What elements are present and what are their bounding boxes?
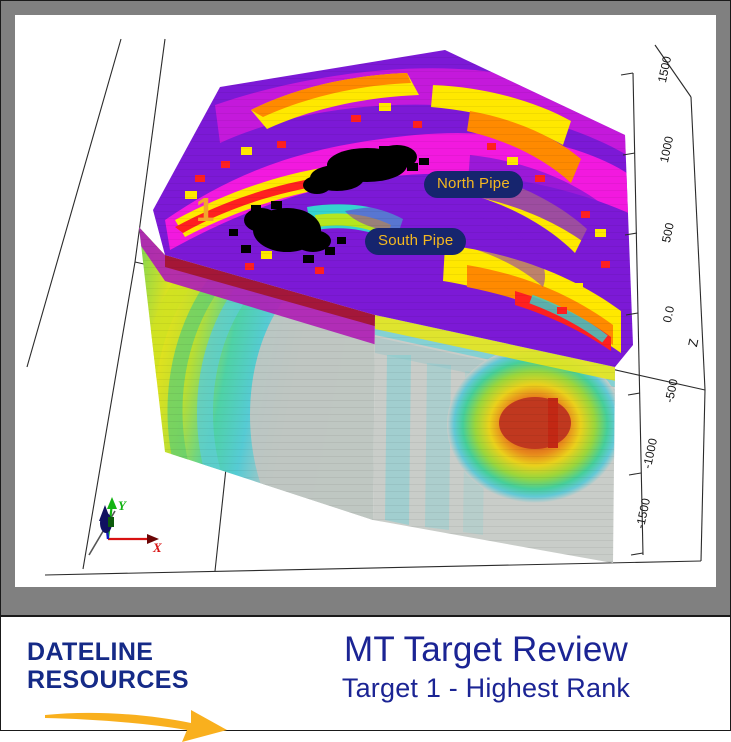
logo-arrow-icon bbox=[41, 694, 237, 742]
target-number-label: 1 bbox=[196, 193, 214, 226]
slide-root: 1500 1000 500 0.0 -500 -1000 -1500 Z Nor… bbox=[0, 0, 731, 731]
page-subtitle: Target 1 - Highest Rank bbox=[251, 672, 721, 704]
figure-canvas: 1500 1000 500 0.0 -500 -1000 -1500 Z Nor… bbox=[15, 15, 716, 587]
triad-axes-icon bbox=[77, 493, 187, 573]
logo-line-1: DATELINE bbox=[27, 639, 237, 666]
dateline-resources-logo: DATELINE RESOURCES bbox=[27, 639, 237, 721]
three-d-scene: 1500 1000 500 0.0 -500 -1000 -1500 Z Nor… bbox=[15, 15, 716, 587]
triad-x-label: X bbox=[153, 540, 162, 556]
figure-grey-frame: 1500 1000 500 0.0 -500 -1000 -1500 Z Nor… bbox=[1, 1, 730, 615]
triad-y-label: Y bbox=[118, 498, 126, 514]
annotation-north-pipe[interactable]: North Pipe bbox=[424, 171, 523, 198]
annotation-south-pipe[interactable]: South Pipe bbox=[365, 228, 466, 255]
page-title: MT Target Review bbox=[251, 629, 721, 670]
orientation-triad: X Y bbox=[77, 493, 187, 573]
logo-line-2: RESOURCES bbox=[27, 667, 237, 694]
slide-footer: DATELINE RESOURCES MT Target Review Targ… bbox=[1, 617, 730, 730]
footer-titles: MT Target Review Target 1 - Highest Rank bbox=[251, 629, 721, 705]
